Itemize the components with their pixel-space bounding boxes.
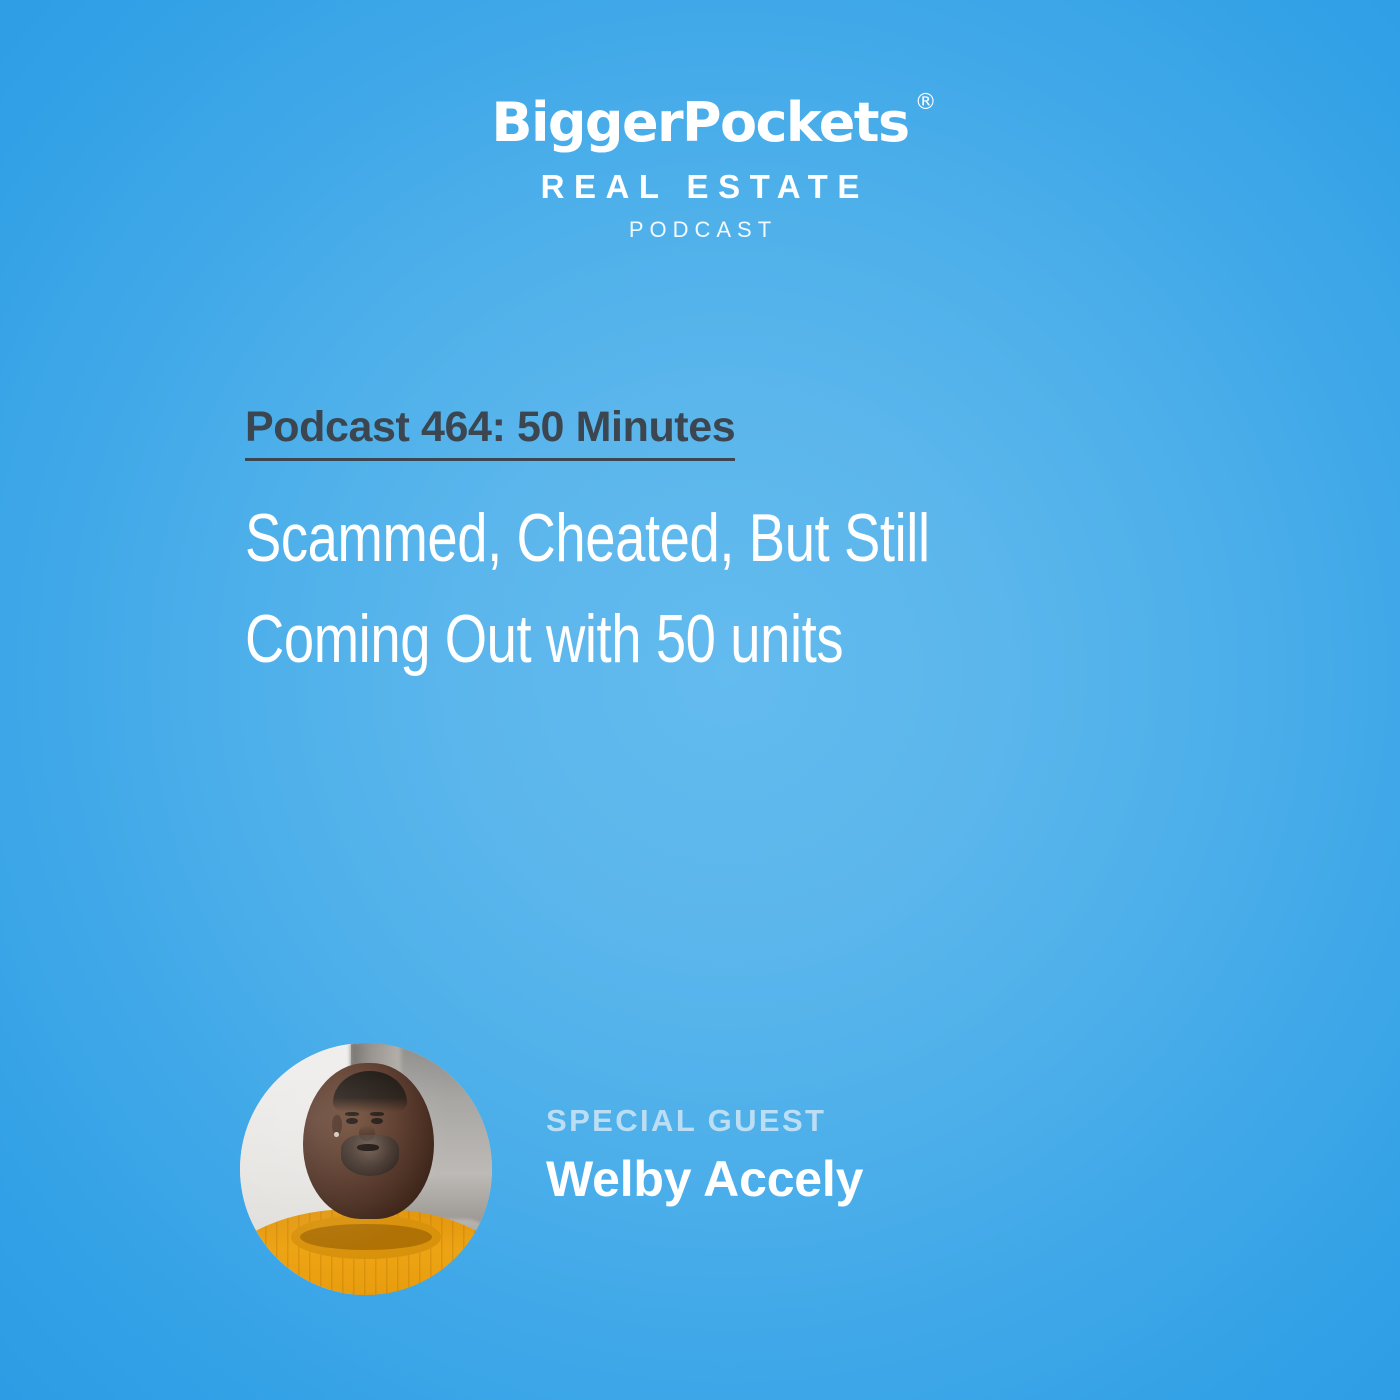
registered-trademark-icon: ® xyxy=(915,92,937,114)
brand-subtitle-real-estate: REAL ESTATE xyxy=(0,170,1400,203)
episode-meta: Podcast 464: 50 Minutes xyxy=(245,404,735,461)
guest-kicker-label: SPECIAL GUEST xyxy=(546,1105,863,1136)
brand-wordmark-text: BiggerPockets xyxy=(491,91,908,154)
guest-avatar xyxy=(240,1043,492,1295)
episode-title-line-2: Coming Out with 50 units xyxy=(245,589,901,690)
guest-credit: SPECIAL GUEST Welby Accely xyxy=(546,1105,863,1204)
podcast-episode-cover: BiggerPockets ® REAL ESTATE PODCAST Podc… xyxy=(0,0,1400,1400)
episode-title-line-1: Scammed, Cheated, But Still xyxy=(245,488,901,589)
brand-wordmark: BiggerPockets ® xyxy=(491,96,908,150)
photo-lighting-overlay xyxy=(240,1043,492,1295)
guest-name: Welby Accely xyxy=(546,1154,863,1204)
brand-subtitle-podcast: PODCAST xyxy=(0,219,1400,241)
guest-photo-image xyxy=(240,1043,492,1295)
brand-lockup: BiggerPockets ® REAL ESTATE PODCAST xyxy=(0,96,1400,241)
episode-title: Scammed, Cheated, But Still Coming Out w… xyxy=(245,488,901,689)
